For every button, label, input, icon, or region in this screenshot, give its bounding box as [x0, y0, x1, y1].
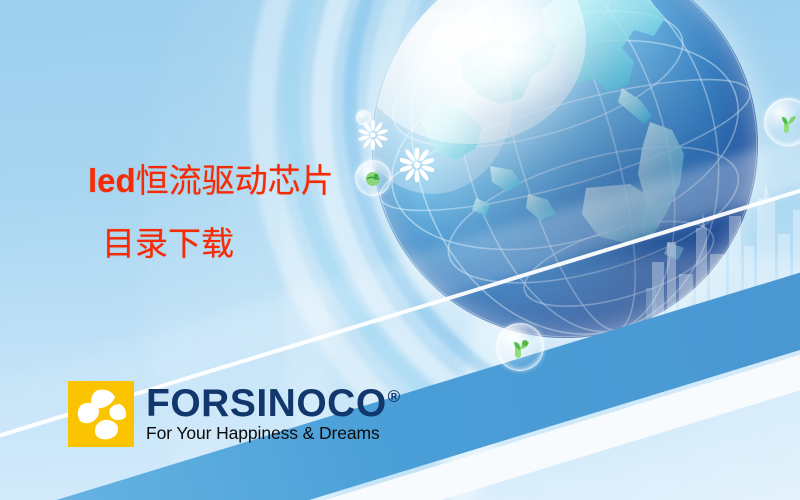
bubble-icon	[496, 323, 544, 371]
logo-tagline: For Your Happiness & Dreams	[146, 424, 401, 442]
flower-burst-icon	[358, 120, 388, 150]
headline-line2: 目录下载	[102, 227, 334, 260]
slide-headline: led恒流驱动芯片 目录下载	[88, 164, 334, 260]
flower-burst-icon	[400, 148, 434, 182]
four-petal-pinwheel-icon	[68, 381, 134, 447]
headline-ascii: led	[88, 162, 136, 199]
bubble-icon	[355, 160, 391, 196]
headline-line1-cjk: 恒流驱动芯片	[136, 161, 334, 200]
logo-wordmark: FORSINOCO ®	[146, 386, 401, 422]
registered-trademark-icon: ®	[388, 388, 401, 405]
logo-name-text: FORSINOCO	[146, 386, 387, 422]
company-logo: FORSINOCO ® For Your Happiness & Dreams	[68, 381, 401, 447]
slide-canvas: led恒流驱动芯片 目录下载 FORSINOCO ® For Your Happ…	[0, 0, 800, 500]
